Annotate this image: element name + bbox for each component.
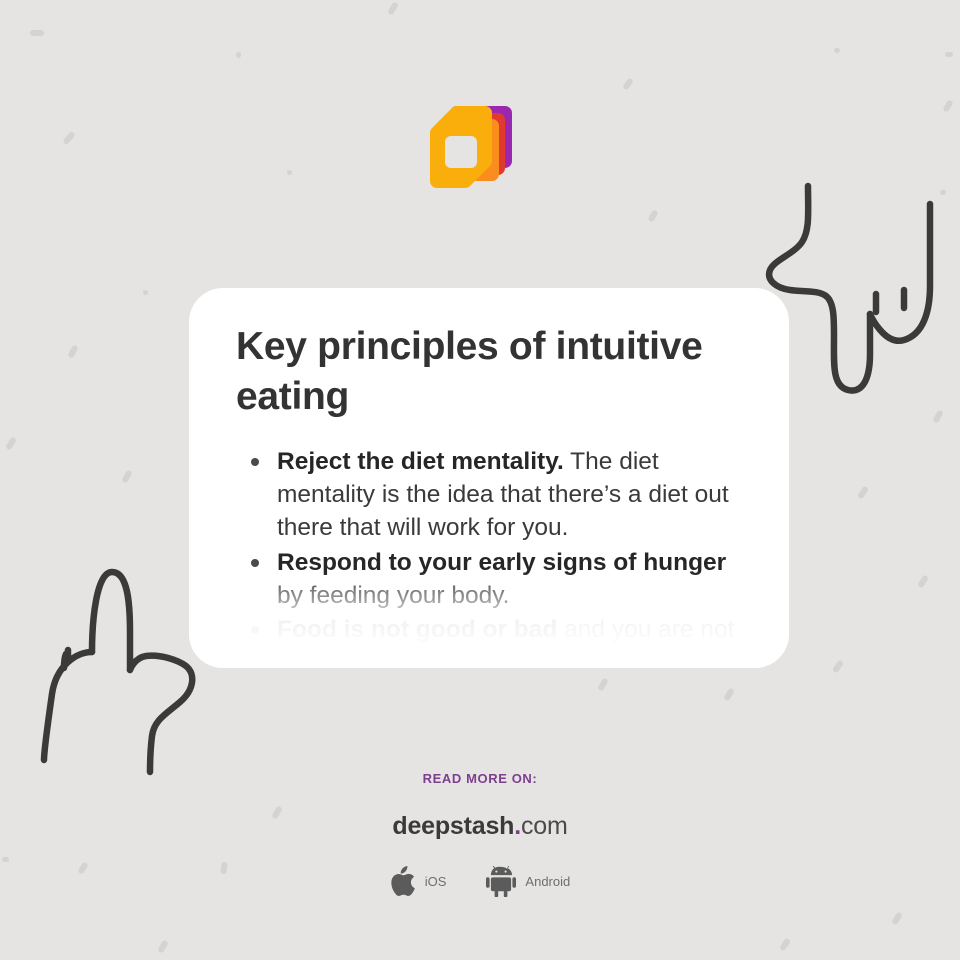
confetti-speck — [647, 209, 658, 222]
list-item-lead: Reject the diet mentality. — [277, 448, 564, 475]
list-item-lead: Respond to your early signs of hunger — [277, 549, 726, 576]
confetti-speck — [67, 344, 78, 358]
confetti-speck — [121, 469, 133, 483]
deepstash-logo — [428, 104, 516, 192]
confetti-speck — [287, 170, 292, 175]
confetti-speck — [30, 30, 44, 36]
app-store-badges: iOS Android — [0, 866, 960, 897]
confetti-speck — [779, 937, 791, 951]
android-store-label: Android — [525, 874, 570, 889]
confetti-speck — [597, 677, 609, 691]
list-item-lead: Food is not good or bad — [277, 616, 557, 643]
confetti-speck — [857, 485, 869, 499]
confetti-speck — [917, 574, 929, 588]
confetti-speck — [622, 77, 634, 90]
ios-store-badge[interactable]: iOS — [390, 866, 447, 897]
list-item-body: by feeding your body. — [277, 582, 509, 609]
page-title: Key principles of intuitive eating — [236, 322, 743, 423]
android-store-badge[interactable]: Android — [486, 866, 570, 897]
content-card: Key principles of intuitive eating Rejec… — [189, 288, 789, 668]
list-item-body: and you are not — [557, 616, 734, 643]
confetti-speck — [832, 659, 844, 673]
android-icon — [486, 866, 516, 897]
confetti-speck — [834, 48, 840, 53]
confetti-speck — [2, 857, 9, 862]
confetti-speck — [940, 190, 946, 195]
apple-icon — [390, 866, 416, 897]
confetti-speck — [945, 52, 953, 57]
list-item: Respond to your early signs of hunger by… — [277, 546, 743, 613]
wordmark-tld: com — [521, 812, 568, 840]
deepstash-wordmark[interactable]: deepstash.com — [0, 812, 960, 841]
wordmark-dot: . — [514, 812, 521, 840]
confetti-speck — [5, 436, 17, 450]
confetti-speck — [932, 409, 944, 423]
ios-store-label: iOS — [425, 874, 447, 889]
confetti-speck — [942, 99, 953, 112]
logo-inner-cutout — [445, 136, 477, 168]
principles-list: Reject the diet mentality. The diet ment… — [236, 445, 743, 647]
read-more-label: READ MORE ON: — [0, 771, 960, 786]
list-item: Reject the diet mentality. The diet ment… — [277, 445, 743, 545]
poster-canvas: Key principles of intuitive eating Rejec… — [0, 0, 960, 960]
confetti-speck — [236, 52, 241, 58]
card-inner: Key principles of intuitive eating Rejec… — [189, 288, 789, 646]
list-item: Food is not good or bad and you are not — [277, 613, 743, 646]
wordmark-name: deepstash — [392, 812, 514, 840]
confetti-speck — [62, 131, 76, 146]
confetti-speck — [143, 290, 148, 295]
confetti-speck — [387, 1, 399, 15]
confetti-speck — [891, 911, 903, 925]
confetti-speck — [157, 939, 169, 953]
confetti-speck — [723, 687, 735, 701]
